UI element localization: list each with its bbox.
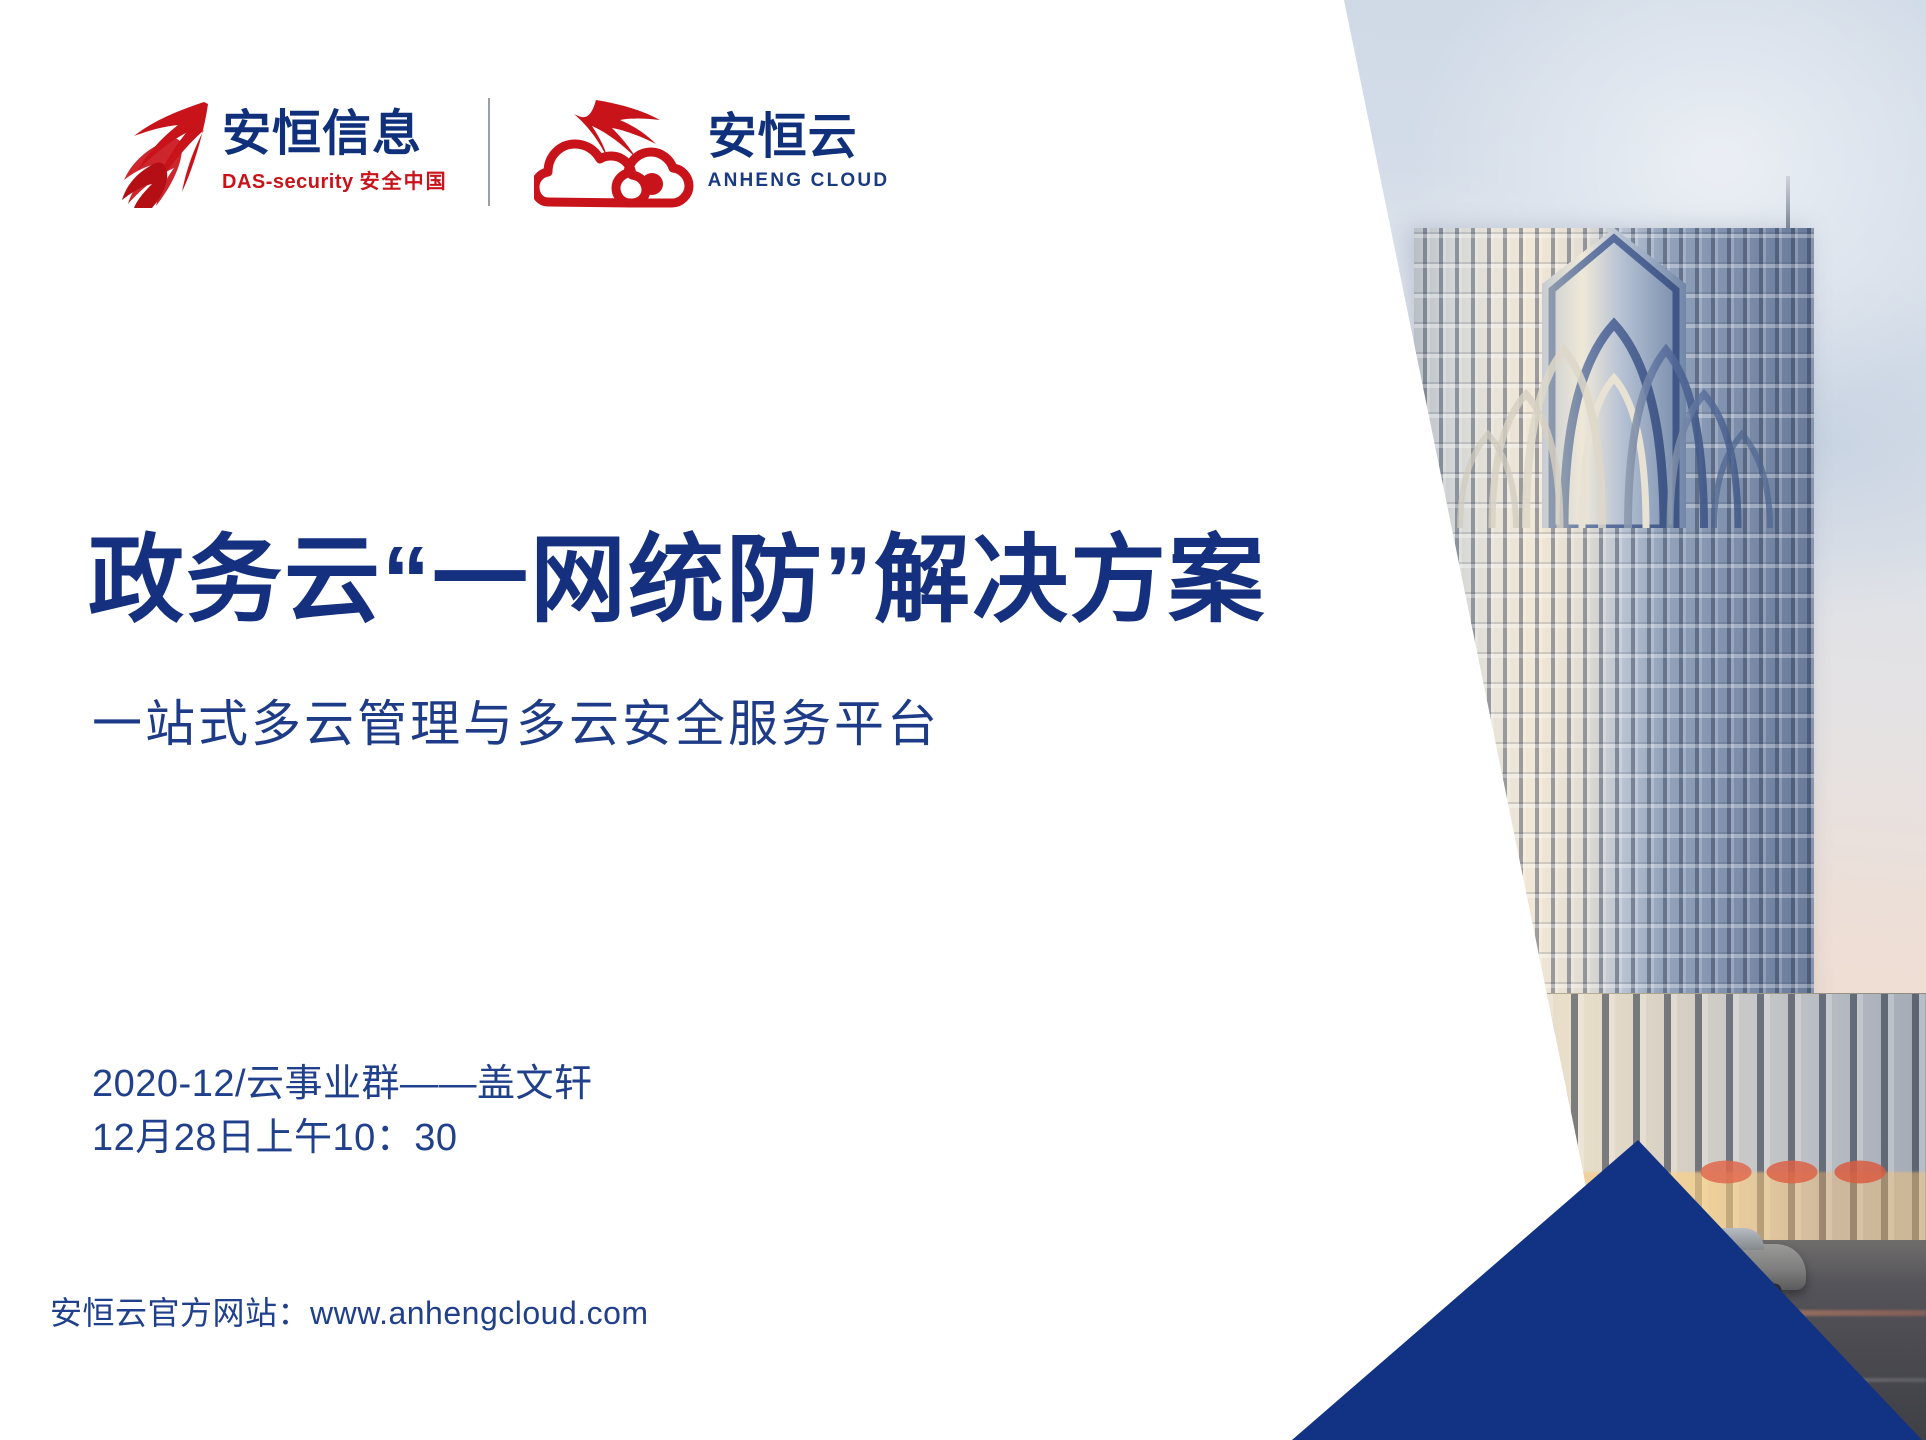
logo-secondary-name: 安恒云	[708, 113, 890, 162]
street-lane-marking-secondary	[1186, 1378, 1926, 1382]
logo-secondary-text: 安恒云 ANHENG CLOUD	[708, 113, 890, 192]
logo-primary-name: 安恒信息	[222, 110, 448, 159]
logo-secondary-tagline: ANHENG CLOUD	[708, 170, 890, 192]
logo-primary-tagline-cn: 安全中国	[360, 171, 448, 193]
gothic-arch-pattern-icon	[1414, 228, 1814, 528]
logo-primary-text: 安恒信息 DAS-security 安全中国	[222, 110, 448, 194]
slide-content: 安恒信息 DAS-security 安全中国 安恒云	[0, 0, 1240, 1440]
das-security-swoosh-icon	[108, 96, 216, 208]
tower-crown-ornament	[1414, 228, 1814, 528]
logo-bar: 安恒信息 DAS-security 安全中国 安恒云	[108, 92, 889, 212]
car	[1626, 1244, 1806, 1290]
page-title: 政务云“一网统防”解决方案	[88, 528, 1266, 634]
logo-primary-tagline-en: DAS-security	[222, 171, 354, 193]
presentation-slide: 安恒信息 DAS-security 安全中国 安恒云	[0, 0, 1926, 1440]
street-umbrellas	[1696, 1154, 1926, 1190]
meta-date-author: 2020-12/云事业群——盖文轩	[92, 1058, 593, 1112]
anheng-cloud-icon	[534, 96, 702, 208]
logo-anheng-information: 安恒信息 DAS-security 安全中国	[108, 96, 448, 208]
hero-building-photo	[1186, 0, 1926, 1440]
meta-time: 12月28日上午10：30	[92, 1112, 593, 1166]
logo-divider	[488, 98, 490, 206]
footer-website: 安恒云官方网站：www.anhengcloud.com	[50, 1288, 649, 1334]
street-lane-marking	[1186, 1310, 1926, 1316]
presentation-meta: 2020-12/云事业群——盖文轩 12月28日上午10：30	[92, 1058, 593, 1166]
logo-anheng-cloud: 安恒云 ANHENG CLOUD	[534, 96, 890, 208]
street	[1186, 1240, 1926, 1440]
logo-primary-tagline: DAS-security 安全中国	[222, 165, 448, 194]
page-subtitle: 一站式多云管理与多云安全服务平台	[92, 694, 940, 754]
